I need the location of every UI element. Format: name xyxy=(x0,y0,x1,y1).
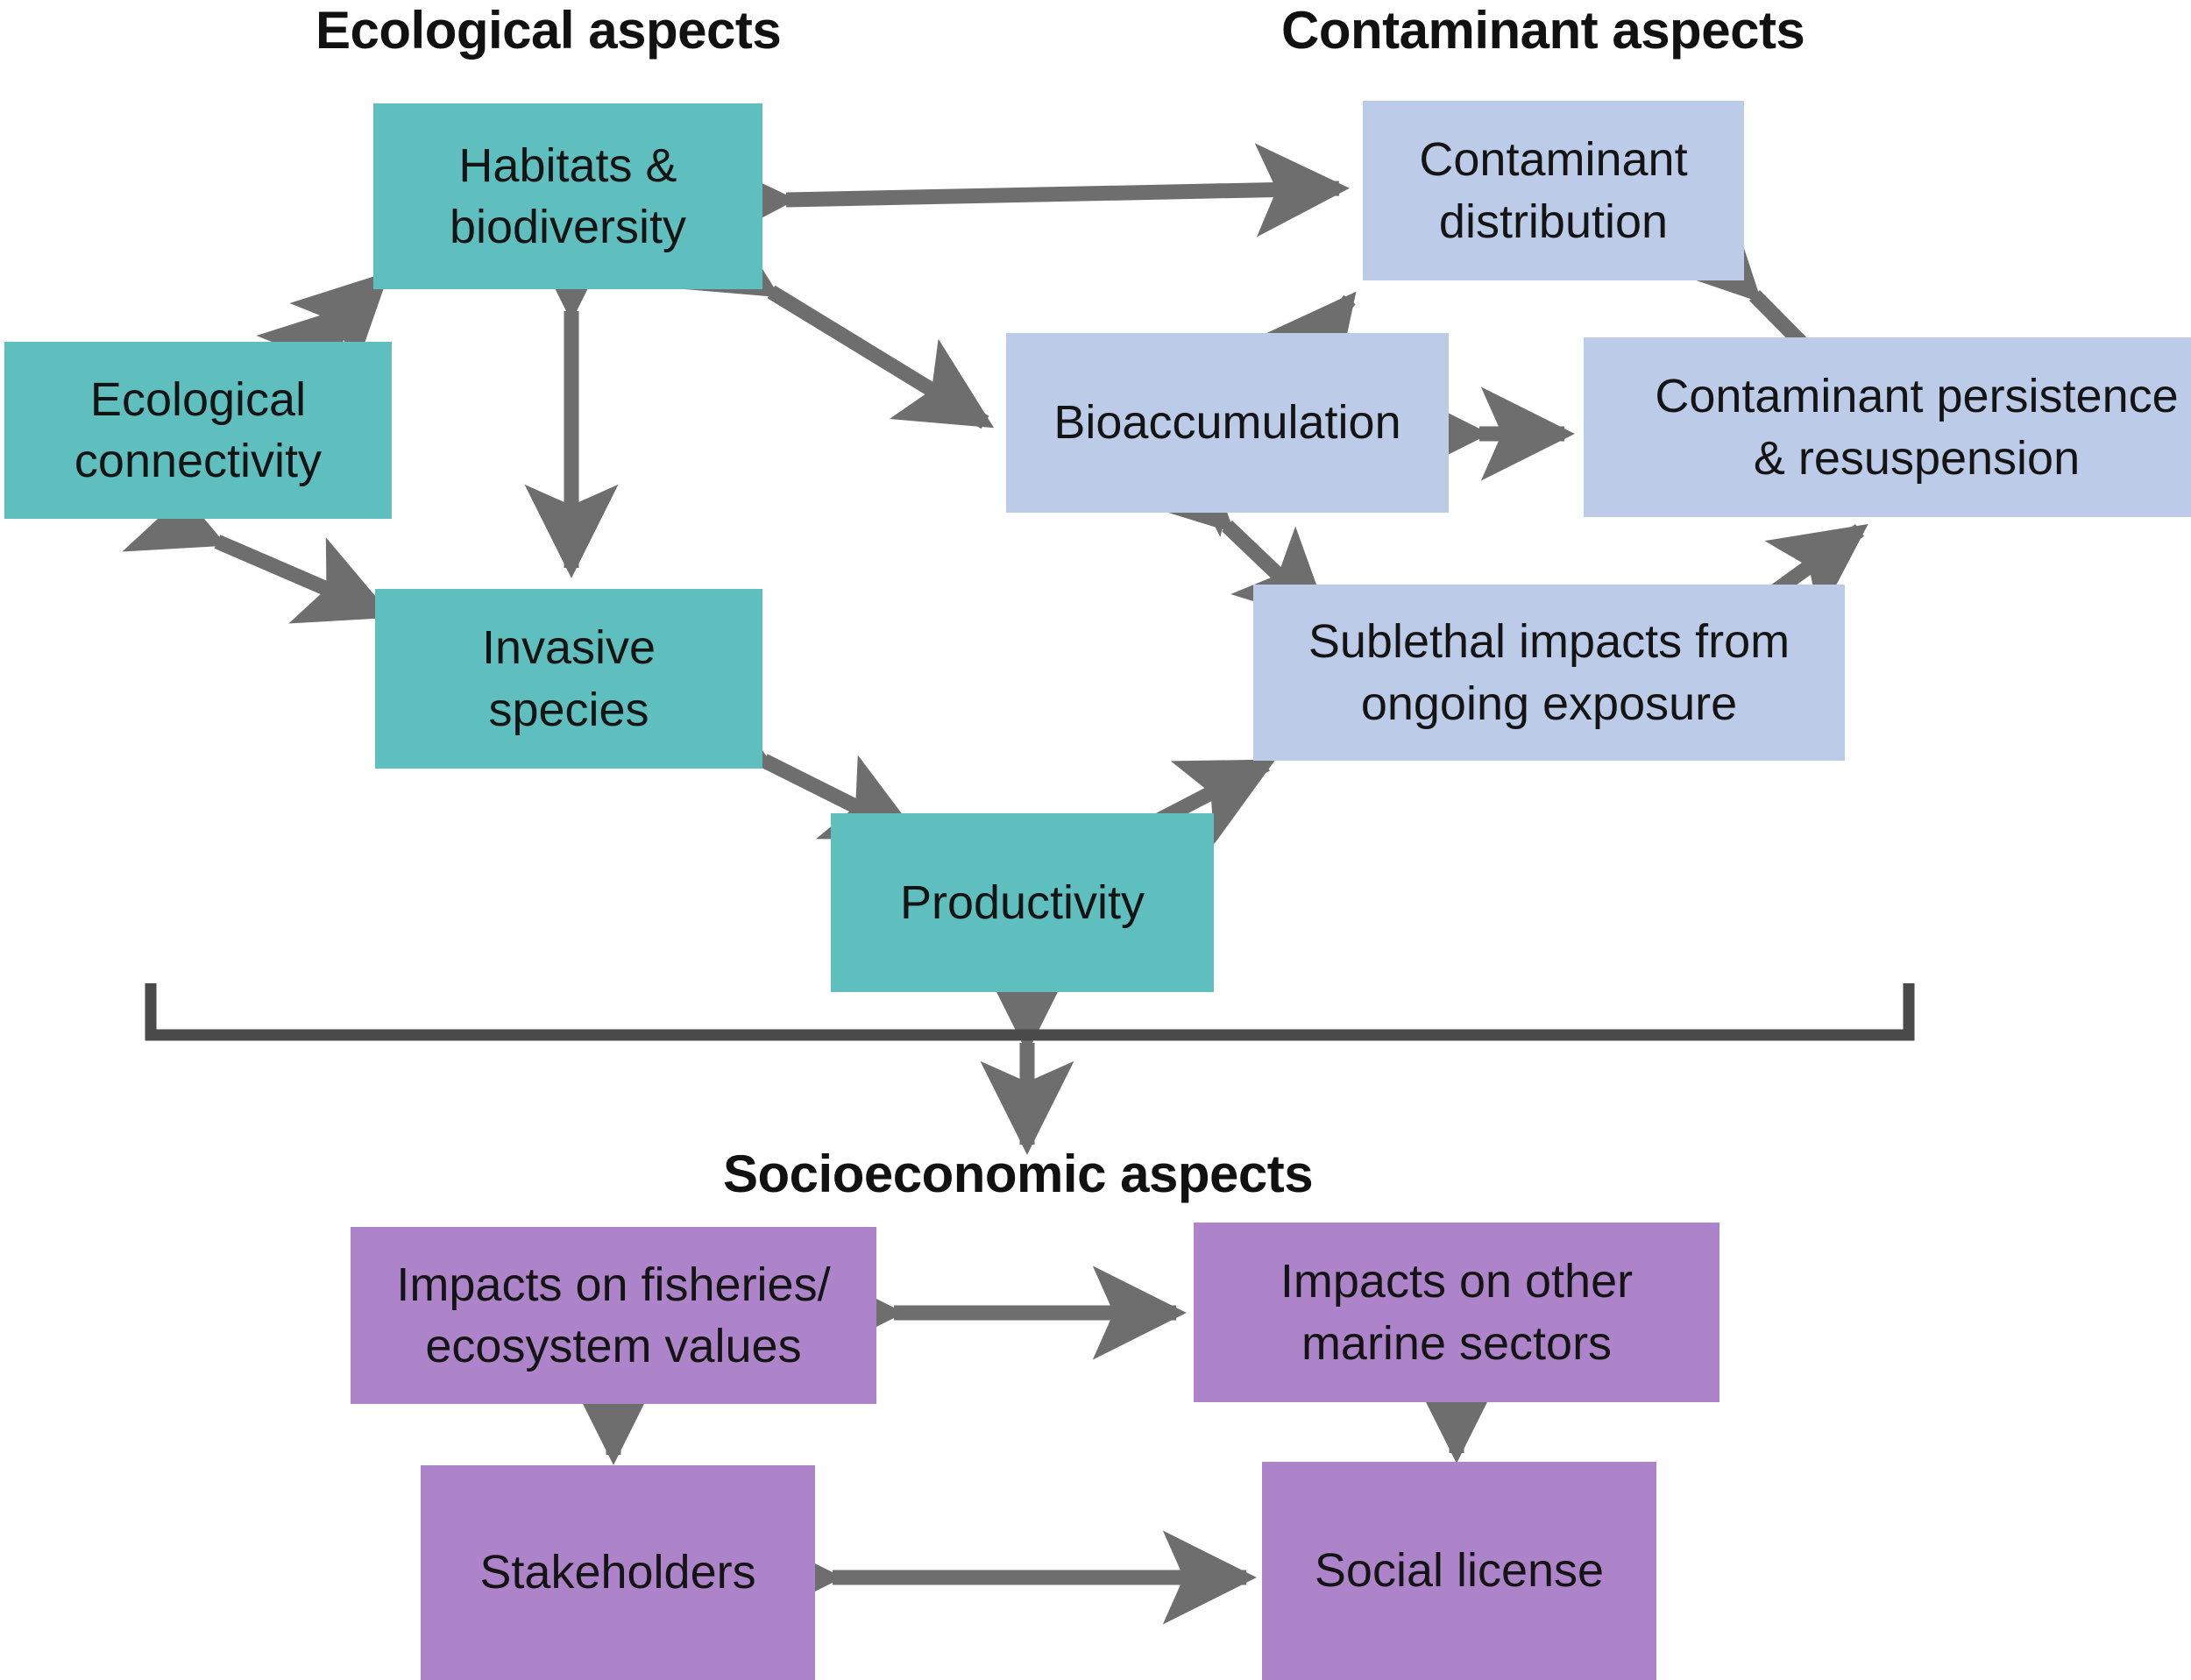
node-stakeholders[interactable]: Stakeholders xyxy=(421,1465,815,1680)
edge-habitats-bioaccumulation xyxy=(771,292,985,422)
node-stakeholders-line1: Stakeholders xyxy=(479,1542,755,1603)
node-contaminant-distribution[interactable]: Contaminant distribution xyxy=(1363,101,1744,280)
node-impacts-marine-sectors[interactable]: Impacts on other marine sectors xyxy=(1194,1223,1719,1402)
node-fisheries-line2: ecosystem values xyxy=(396,1315,830,1377)
node-social-license[interactable]: Social license xyxy=(1262,1462,1656,1680)
node-habitats-line2: biodiversity xyxy=(450,196,686,258)
node-fisheries-line1: Impacts on fisheries/ xyxy=(396,1254,830,1315)
node-sublethal-line2: ongoing exposure xyxy=(1308,673,1790,734)
node-invasive-line1: Invasive xyxy=(482,617,656,678)
node-ecological-connectivity[interactable]: Ecological connectivity xyxy=(4,342,392,519)
group-title-socioeconomic-label: Socioeconomic aspects xyxy=(723,1145,1313,1203)
node-distribution-line2: distribution xyxy=(1419,191,1687,252)
group-title-socioeconomic: Socioeconomic aspects xyxy=(723,1148,1313,1201)
node-persistence-line1: Contaminant persistence xyxy=(1655,365,2178,427)
node-habitats-line1: Habitats & xyxy=(450,135,686,196)
group-title-contaminant-label: Contaminant aspects xyxy=(1281,1,1805,60)
node-marine-sectors-line2: marine sectors xyxy=(1280,1313,1633,1374)
node-persistence-line2: & resuspension xyxy=(1655,428,2178,489)
node-marine-sectors-line1: Impacts on other xyxy=(1280,1251,1633,1312)
node-impacts-fisheries[interactable]: Impacts on fisheries/ ecosystem values xyxy=(351,1227,876,1404)
node-bioaccumulation[interactable]: Bioaccumulation xyxy=(1006,333,1449,513)
node-sublethal-impacts[interactable]: Sublethal impacts from ongoing exposure xyxy=(1253,585,1845,761)
edge-connectivity-invasive xyxy=(217,542,384,613)
node-productivity[interactable]: Productivity xyxy=(831,813,1214,992)
node-connectivity-line1: Ecological xyxy=(74,369,322,430)
node-bioaccumulation-line1: Bioaccumulation xyxy=(1053,392,1400,453)
edge-habitats-distribution xyxy=(786,188,1339,200)
node-contaminant-persistence[interactable]: Contaminant persistence & resuspension xyxy=(1584,337,2191,517)
diagram-canvas: Ecological aspects Contaminant aspects S… xyxy=(0,0,2191,1680)
node-invasive-species[interactable]: Invasive species xyxy=(375,589,762,769)
group-title-ecological: Ecological aspects xyxy=(316,4,781,57)
node-habitats-biodiversity[interactable]: Habitats & biodiversity xyxy=(373,103,762,289)
node-productivity-line1: Productivity xyxy=(900,872,1145,933)
node-connectivity-line2: connectivity xyxy=(74,430,322,492)
node-invasive-line2: species xyxy=(482,679,656,741)
node-sublethal-line1: Sublethal impacts from xyxy=(1308,611,1790,672)
node-distribution-line1: Contaminant xyxy=(1419,129,1687,190)
node-social-license-line1: Social license xyxy=(1315,1540,1604,1601)
group-title-ecological-label: Ecological aspects xyxy=(316,1,781,60)
group-title-contaminant: Contaminant aspects xyxy=(1281,4,1805,57)
